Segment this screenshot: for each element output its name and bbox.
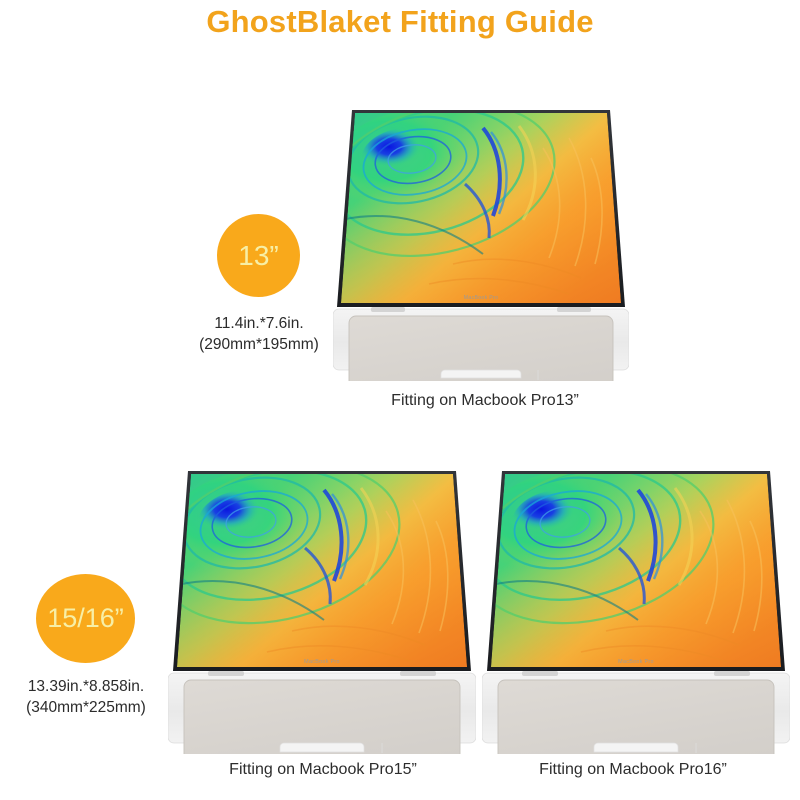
caption-macbook-pro-15: Fitting on Macbook Pro15” bbox=[172, 761, 474, 779]
macbook-pro-13-illustration: MacBook Pro bbox=[333, 88, 629, 381]
infographic-page: GhostBlaket Fitting Guide 13” 11.4in.*7.… bbox=[0, 0, 800, 800]
bezel-label-13: MacBook Pro bbox=[464, 295, 498, 301]
dimensions-13-mm: (290mm*195mm) bbox=[178, 334, 340, 355]
macbook-pro-15-illustration: MacBook Pro bbox=[168, 449, 476, 754]
dimensions-15-16-inches: 13.39in.*8.858in. bbox=[0, 676, 172, 697]
bezel-label-16: MacBook Pro bbox=[618, 659, 654, 665]
bezel-label-15: MacBook Pro bbox=[304, 659, 340, 665]
size-badge-15-16: 15/16” bbox=[36, 574, 135, 663]
caption-macbook-pro-16: Fitting on Macbook Pro16” bbox=[482, 761, 784, 779]
macbook-pro-16-illustration: MacBook Pro bbox=[482, 449, 790, 754]
dimensions-15-16: 13.39in.*8.858in. (340mm*225mm) bbox=[0, 676, 172, 718]
size-badge-13-label: 13” bbox=[238, 242, 278, 270]
dimensions-13: 11.4in.*7.6in. (290mm*195mm) bbox=[178, 313, 340, 355]
page-title: GhostBlaket Fitting Guide bbox=[0, 4, 800, 40]
dimensions-13-inches: 11.4in.*7.6in. bbox=[178, 313, 340, 334]
caption-macbook-pro-13: Fitting on Macbook Pro13” bbox=[335, 392, 635, 410]
size-badge-13: 13” bbox=[217, 214, 300, 297]
size-badge-15-16-label: 15/16” bbox=[47, 605, 124, 632]
dimensions-15-16-mm: (340mm*225mm) bbox=[0, 697, 172, 718]
